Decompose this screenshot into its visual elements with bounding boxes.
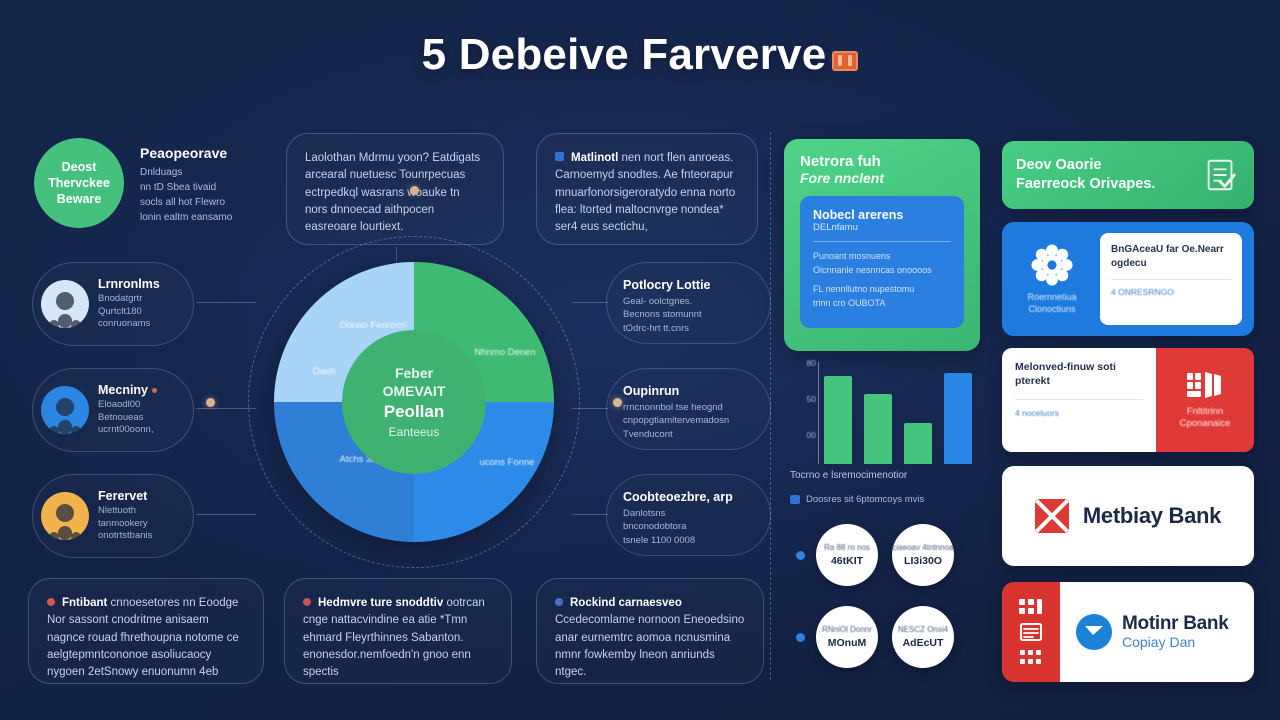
connector-line (196, 408, 256, 409)
person-detail: Nlettuoth tanmookery onotrtstbanis (98, 505, 152, 543)
bottom-card-pink-body: ootrcan cnge nattacvindine ea atie *Tmn … (303, 597, 485, 678)
highlight-paragraph-card[interactable]: Matlinotl nen nort flen anroeas. Carnoem… (536, 133, 758, 245)
wheel-node-dot-icon (206, 398, 215, 407)
connections-icon-block: Roernnetiua Clonoctiuns (1014, 233, 1090, 325)
feature-detail-line-2: bnconodobtora (623, 520, 754, 533)
person-name: Lrnronlms (98, 277, 160, 291)
bottom-card-blue-text: Rockind carnaesveo Ccedecomlame nornoon … (555, 595, 745, 681)
chart-y-axis (818, 362, 819, 464)
bank-building-icon (1185, 370, 1225, 400)
chart-bars (824, 362, 980, 464)
feature-detail-line-3: tsnele 1100 0008 (623, 534, 754, 547)
bottom-card-red[interactable]: Fntibant cnnoesetores nn Eoodge Nor sass… (28, 578, 264, 684)
orange-badge-icon (832, 51, 858, 71)
compliance-white-half[interactable]: Melonved-finuw soti pterekt 4 noceluors (1002, 348, 1156, 452)
hero-line-1: Dnlduags (140, 165, 280, 180)
chart-legend-icon (790, 495, 800, 504)
grid-icon (1018, 598, 1044, 616)
green-panel-title-line1: Netrora fuh (800, 153, 964, 170)
chart-bar[interactable] (904, 423, 932, 464)
chart-title: Tocrno e lsremocimenotior (790, 470, 990, 481)
inner-card-subtitle: DELnfamu (813, 222, 951, 233)
stat-badge-label: RNniOl Donnr (822, 625, 872, 635)
chart-ytick-2: 00 (790, 430, 816, 440)
inner-card-line-4: trinn cro OUBOTA (813, 297, 951, 311)
feature-detail-line-3: tOdrc-hrt tt.cnrs (623, 322, 754, 335)
red-x-square-icon (1035, 499, 1069, 533)
center-wheel-diagram: Oonao Fenrorm Nhnmo Denen Atchs 3b.ons u… (248, 236, 580, 568)
stat-badge-value: MOnuM (828, 637, 867, 649)
feature-detail-line-1: Geal- oolctgnes. (623, 295, 754, 308)
person-detail-line-1: Nlettuoth (98, 505, 152, 518)
person-detail: Eloaodl00 Betnoueas ucrnt00oonn, (98, 399, 157, 437)
green-panel-inner-card[interactable]: Nobecl arerens DELnfamu Punoant mosnuens… (800, 196, 964, 328)
hero-text-block: Peaopeorave Dnlduags nn tD Sbea tivaid s… (140, 145, 280, 225)
green-panel-title-line2: Fore nnclent (800, 170, 964, 186)
list-item-person[interactable]: Mecniny Eloaodl00 Betnoueas ucrnt00oonn, (32, 368, 194, 452)
stat-badge-grid: Ra 88 ro nos 46tKIT ciaeoav 4tntnnoa LI3… (816, 524, 976, 676)
feature-card[interactable]: Oupinrun rrncnonnbol tse heognd cnpopgti… (606, 368, 771, 450)
connections-icon-label: Roernnetiua Clonoctiuns (1027, 292, 1076, 315)
chart-bar[interactable] (864, 394, 892, 464)
stat-badge-label: NESCZ Onsi4 (898, 625, 948, 635)
chart-subtitle: Doosres sit 6ptomcoys mvis (806, 494, 924, 505)
hero-heading: Peaopeorave (140, 145, 280, 161)
wheel-quadrant-label-top-right: Nhnmo Denen (470, 347, 540, 359)
person-detail-line-2: tanmookery (98, 518, 152, 531)
compliance-red-label: Fnltitrinn Cponanaice (1180, 406, 1231, 431)
hero-circle-line1: Deost (62, 159, 97, 175)
intro-paragraph-card[interactable]: Laolothan Mdrmu yoon? Eatdigats arcearal… (286, 133, 504, 245)
feature-card[interactable]: Potlocry Lottie Geal- oolctgnes. Becnons… (606, 262, 771, 344)
bottom-card-blue[interactable]: Rockind carnaesveo Ccedecomlame nornoon … (536, 578, 764, 684)
connections-icon-label-line1: Roernnetiua (1027, 292, 1076, 304)
compliance-title-line1: Melonved-finuw soti (1015, 360, 1143, 374)
badge-row-dot-icon (796, 551, 805, 560)
feature-title: Coobteoezbre, arp (623, 490, 754, 504)
wheel-quadrant-label-top-left: Oonao Fenrorm (338, 320, 408, 332)
green-banner-text: Deov Oaorie Faerreock Orivapes. (1016, 156, 1202, 194)
inner-card-divider (813, 241, 951, 242)
person-detail-line-2: Betnoueas (98, 412, 157, 425)
green-summary-panel[interactable]: Netrora fuh Fore nnclent Nobecl arerens … (784, 139, 980, 351)
badge-row-dot-icon (796, 633, 805, 642)
compliance-red-label-line1: Fnltitrinn (1180, 406, 1231, 418)
person-detail-line-3: conruonams (98, 318, 160, 331)
square-bullet-icon (555, 152, 564, 161)
feature-detail-line-2: cnpopgtiamitervemadosn (623, 414, 754, 427)
feature-detail-line-2: Becnons stomunnt (623, 308, 754, 321)
stat-badge[interactable]: Ra 88 ro nos 46tKIT (816, 524, 878, 586)
bottom-card-blue-lead: Rockind carnaesveo (570, 597, 682, 609)
person-detail-line-3: onotrtstbanis (98, 530, 152, 543)
compliance-split-card[interactable]: Melonved-finuw soti pterekt 4 noceluors … (1002, 348, 1254, 452)
connections-inset-title-line2: ogdecu (1111, 257, 1231, 271)
connector-line (196, 514, 256, 515)
compliance-red-label-line2: Cponanaice (1180, 418, 1231, 430)
bar-chart: 80 50 00 (790, 362, 980, 464)
feature-card[interactable]: Coobteoezbre, arp Danlotsns bnconodobtor… (606, 474, 771, 556)
connections-icon-label-line2: Clonoctiuns (1027, 304, 1076, 316)
page-title-text: 5 Debeive Farverve (422, 30, 827, 80)
stat-badge-value: LI3i30O (904, 555, 942, 567)
hero-circle-line2: Thervckee (48, 175, 110, 191)
inner-card-line-1: Punoant mosnuens (813, 250, 951, 264)
bank-logo-card-motinr[interactable]: Motinr Bank Copiay Dan (1002, 582, 1254, 682)
bullet-dot-icon (303, 598, 311, 606)
inner-card-line-3: FL nennllutno nupestomu (813, 283, 951, 297)
intro-paragraph-text: Laolothan Mdrmu yoon? Eatdigats arcearal… (305, 150, 485, 236)
feature-detail-line-1: Danlotsns (623, 507, 754, 520)
person-detail-line-2: Qurtclt180 (98, 306, 160, 319)
stat-badge-label: Ra 88 ro nos (824, 543, 870, 553)
bullet-dot-icon (555, 598, 563, 606)
keypad-icon (1018, 648, 1044, 666)
hero-line-2: nn tD Sbea tivaid (140, 180, 280, 195)
feature-detail: Danlotsns bnconodobtora tsnele 1100 0008 (623, 507, 754, 547)
compliance-divider (1015, 399, 1143, 400)
person-avatar (41, 386, 89, 434)
feature-detail: Geal- oolctgnes. Becnons stomunnt tOdrc-… (623, 295, 754, 335)
chart-bar[interactable] (944, 373, 972, 464)
person-name: Ferervet (98, 489, 152, 503)
connector-line (196, 302, 256, 303)
wheel-quadrant-label-bottom-right: ucons Fonne (472, 457, 542, 469)
stat-badge-label: ciaeoav 4tntnnoa (893, 543, 954, 553)
person-detail-line-1: Bnodatgrtr (98, 293, 160, 306)
status-dot-icon (152, 388, 157, 393)
wheel-hub-line3: Peollan (384, 401, 444, 424)
wheel-hub-line1: Feber (395, 364, 433, 383)
wheel-hub: Feber OMEVAIT Peollan Eanteeus (342, 330, 486, 474)
bank-logo-card-metbiay[interactable]: Metbiay Bank (1002, 466, 1254, 566)
page-title: 5 Debeive Farverve (0, 30, 1280, 80)
list-item-person[interactable]: Ferervet Nlettuoth tanmookery onotrtstba… (32, 474, 194, 558)
bullet-dot-icon (47, 598, 55, 606)
connections-inset-divider (1111, 279, 1231, 280)
wheel-hub-line2: OMEVAIT (383, 382, 446, 401)
compliance-title-line2: pterekt (1015, 374, 1143, 388)
chart-subtitle-row: Doosres sit 6ptomcoys mvis (790, 494, 990, 505)
connections-blue-card[interactable]: Roernnetiua Clonoctiuns BnGAceaU far Oe.… (1002, 222, 1254, 336)
blue-check-circle-icon (1076, 614, 1112, 650)
stat-badge[interactable]: ciaeoav 4tntnnoa LI3i30O (892, 524, 954, 586)
document-check-icon (1202, 156, 1240, 194)
connections-inset-sub: 4 ONRESRNGO (1111, 287, 1231, 297)
green-banner-line2: Faerreock Orivapes. (1016, 175, 1202, 194)
bottom-card-red-text: Fntibant cnnoesetores nn Eoodge Nor sass… (47, 595, 245, 681)
chart-ytick-0: 80 (790, 358, 816, 368)
person-avatar (41, 280, 89, 328)
bottom-card-blue-body: Ccedecomlame nornoon Eneoedsino anar eur… (555, 614, 744, 678)
bank-white-half: Motinr Bank Copiay Dan (1060, 582, 1254, 682)
feature-detail-line-3: Tvenducont (623, 428, 754, 441)
highlight-lead: Matlinotl (571, 152, 618, 164)
person-detail-line-3: ucrnt00oonn, (98, 424, 157, 437)
wheel-hub-line4: Eanteeus (389, 424, 440, 440)
highlight-paragraph-text: Matlinotl nen nort flen anroeas. Carnoem… (555, 150, 739, 236)
ledger-icon (1018, 623, 1044, 641)
green-callout-banner[interactable]: Deov Oaorie Faerreock Orivapes. (1002, 141, 1254, 209)
bank-red-strip (1002, 582, 1060, 682)
green-banner-line1: Deov Oaorie (1016, 156, 1202, 175)
feature-detail: rrncnonnbol tse heognd cnpopgtiamitervem… (623, 401, 754, 441)
chart-ytick-1: 50 (790, 394, 816, 404)
person-detail: Bnodatgrtr Qurtclt180 conruonams (98, 293, 160, 331)
bank-sub-motinr: Copiay Dan (1122, 634, 1228, 650)
hero-line-3: socls all hot Flewro (140, 195, 280, 210)
list-item-person[interactable]: Lrnronlms Bnodatgrtr Qurtclt180 conruona… (32, 262, 194, 346)
hero-line-4: lonin ealtm eansamo (140, 210, 280, 225)
compliance-sub: 4 noceluors (1015, 408, 1143, 418)
hero-lines: Dnlduags nn tD Sbea tivaid socls all hot… (140, 165, 280, 225)
person-detail-line-1: Eloaodl00 (98, 399, 157, 412)
wheel-donut[interactable]: Oonao Fenrorm Nhnmo Denen Atchs 3b.ons u… (274, 262, 554, 542)
stat-badge-value: AdEcUT (903, 637, 944, 649)
stat-badge-value: 46tKIT (831, 555, 863, 567)
bottom-card-pink-text: Hedmvre ture snoddtiv ootrcan cnge natta… (303, 595, 493, 681)
highlight-body: nen nort flen anroeas. Carnoemyd snodtes… (555, 152, 735, 233)
inner-card-line-2: Oicnnanle nesnncas onoooos (813, 264, 951, 278)
bottom-card-red-lead: Fntibant (62, 597, 107, 609)
rosette-icon (1030, 243, 1074, 287)
bottom-card-pink-lead: Hedmvre ture snoddtiv (318, 597, 443, 609)
wheel-node-dot-icon (410, 186, 419, 195)
compliance-red-half[interactable]: Fnltitrinn Cponanaice (1156, 348, 1254, 452)
feature-title: Oupinrun (623, 384, 754, 398)
person-name: Mecniny (98, 383, 148, 397)
hero-circle-line3: Beware (57, 191, 101, 207)
wheel-side-label: Oaoti (296, 366, 352, 378)
person-avatar (41, 492, 89, 540)
bottom-card-pink[interactable]: Hedmvre ture snoddtiv ootrcan cnge natta… (284, 578, 512, 684)
connections-inset-title-line1: BnGAceaU far Oe.Nearr (1111, 243, 1231, 257)
stat-badge[interactable]: RNniOl Donnr MOnuM (816, 606, 878, 668)
stat-badge[interactable]: NESCZ Onsi4 AdEcUT (892, 606, 954, 668)
bank-name-motinr: Motinr Bank (1122, 614, 1228, 634)
feature-title: Potlocry Lottie (623, 278, 754, 292)
person-name-row: Mecniny (98, 383, 157, 397)
connections-white-inset[interactable]: BnGAceaU far Oe.Nearr ogdecu 4 ONRESRNGO (1100, 233, 1242, 325)
bank-name-metbiay: Metbiay Bank (1083, 503, 1221, 529)
bottom-card-red-body: cnnoesetores nn Eoodge Nor sassont cnodr… (47, 597, 239, 678)
inner-card-title: Nobecl arerens (813, 208, 951, 222)
section-divider (770, 132, 771, 680)
chart-bar[interactable] (824, 376, 852, 464)
hero-circle: Deost Thervckee Beware (34, 138, 124, 228)
feature-detail-line-1: rrncnonnbol tse heognd (623, 401, 754, 414)
